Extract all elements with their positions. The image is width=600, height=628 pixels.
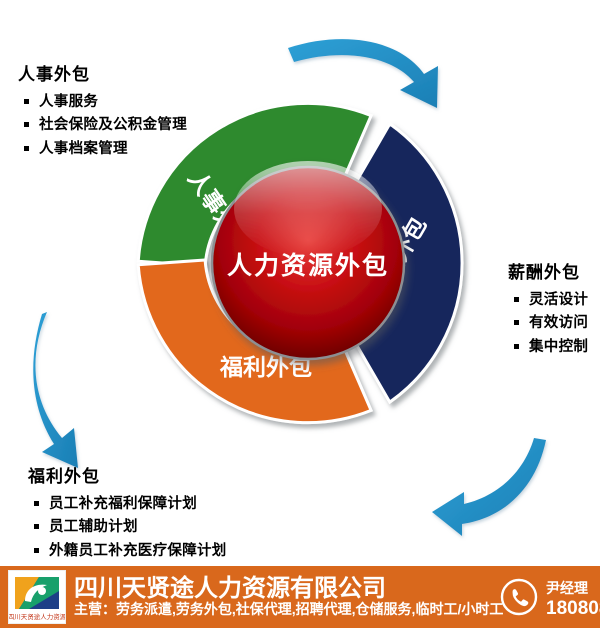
business-scope: 主营：劳务派遣,劳务外包,社保代理,招聘代理,仓储服务,临时工/小时工	[74, 599, 503, 619]
block-list-payroll: 灵活设计 有效访问 集中控制	[512, 289, 588, 359]
block-list-hr: 人事服务 社会保险及公积金管理 人事档案管理	[22, 91, 187, 161]
block-title-hr: 人事外包	[18, 60, 187, 85]
text-block-benefit-outsourcing: 福利外包 员工补充福利保障计划 员工辅助计划 外籍员工补充医疗保障计划	[28, 462, 227, 563]
contact-phone: 18080880089	[546, 598, 600, 620]
block-title-benefit: 福利外包	[28, 462, 227, 487]
arrow-left	[33, 312, 78, 468]
list-item: 有效访问	[512, 312, 588, 335]
list-item: 社会保险及公积金管理	[22, 114, 187, 137]
list-item: 灵活设计	[512, 289, 588, 312]
logo-text: 四川天贤途人力资源	[9, 612, 65, 621]
phone-icon	[500, 578, 538, 616]
center-sphere-label: 人力资源外包	[227, 251, 389, 280]
poster-canvas: 人事外包 薪酬外包 福利外包 人力资源外包 人事外包 人事服务	[0, 0, 600, 628]
list-item: 集中控制	[512, 336, 588, 359]
footer-bar: 四川天贤途人力资源 四川天贤途人力资源有限公司 主营：劳务派遣,劳务外包,社保代…	[0, 566, 600, 628]
text-block-payroll-outsourcing: 薪酬外包 灵活设计 有效访问 集中控制	[508, 258, 588, 359]
block-title-payroll: 薪酬外包	[508, 258, 588, 283]
text-block-hr-outsourcing: 人事外包 人事服务 社会保险及公积金管理 人事档案管理	[18, 60, 187, 161]
company-name: 四川天贤途人力资源有限公司	[74, 568, 386, 603]
block-list-benefit: 员工补充福利保障计划 员工辅助计划 外籍员工补充医疗保障计划	[32, 493, 227, 563]
center-sphere[interactable]: 人力资源外包	[212, 161, 404, 359]
list-item: 员工辅助计划	[32, 516, 227, 539]
contact-name: 尹经理	[546, 578, 588, 598]
list-item: 人事档案管理	[22, 138, 187, 161]
list-item: 人事服务	[22, 91, 187, 114]
list-item: 外籍员工补充医疗保障计划	[32, 540, 227, 563]
company-logo: 四川天贤途人力资源	[8, 570, 66, 624]
list-item: 员工补充福利保障计划	[32, 493, 227, 516]
